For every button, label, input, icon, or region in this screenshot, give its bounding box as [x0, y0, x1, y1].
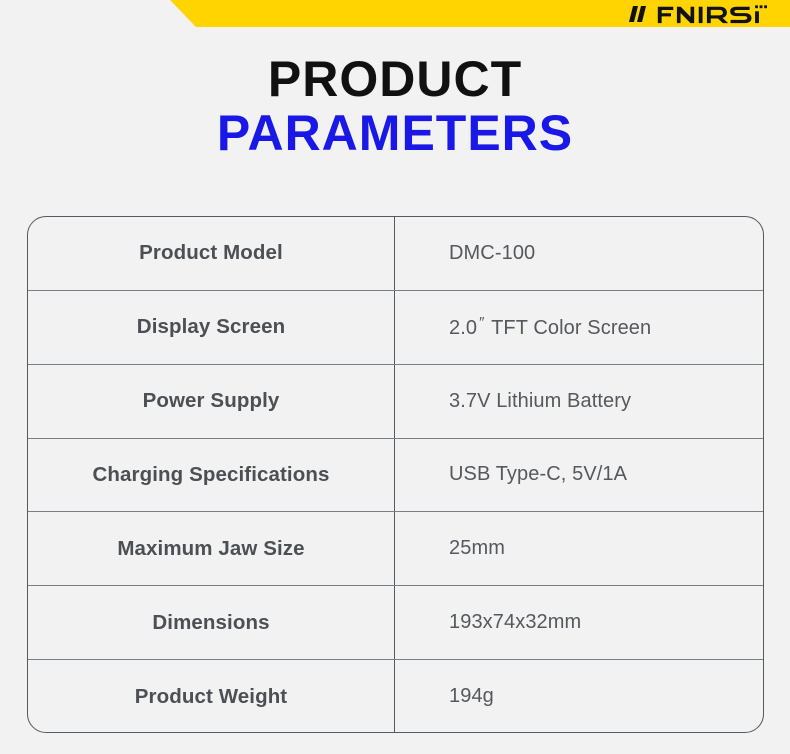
table-row: Display Screen 2.0″ TFT Color Screen	[28, 291, 763, 365]
inch-mark-icon: ″	[477, 314, 485, 331]
spec-value: 193x74x32mm	[449, 611, 581, 634]
header-banner	[0, 0, 790, 27]
spec-value: 25mm	[449, 537, 505, 560]
table-row: Dimensions 193x74x32mm	[28, 586, 763, 660]
table-cell-value: 3.7V Lithium Battery	[395, 365, 763, 438]
table-row: Power Supply 3.7V Lithium Battery	[28, 365, 763, 439]
spec-label: Display Screen	[137, 315, 285, 339]
spec-label: Dimensions	[152, 611, 269, 635]
fnirsi-wordmark-icon	[656, 4, 776, 24]
table-cell-label: Maximum Jaw Size	[28, 512, 395, 585]
table-cell-label: Dimensions	[28, 586, 395, 659]
table-cell-value: USB Type-C, 5V/1A	[395, 439, 763, 512]
brand-logo	[629, 0, 776, 27]
table-cell-value: 25mm	[395, 512, 763, 585]
spec-label: Product Model	[139, 241, 283, 265]
table-cell-label: Charging Specifications	[28, 439, 395, 512]
spec-label: Power Supply	[143, 389, 280, 413]
spec-value: DMC-100	[449, 242, 535, 265]
spec-label: Maximum Jaw Size	[117, 537, 304, 561]
table-row: Product Model DMC-100	[28, 217, 763, 291]
spec-value: USB Type-C, 5V/1A	[449, 463, 627, 486]
spec-value: 194g	[449, 685, 494, 708]
logo-slashes-icon	[629, 5, 651, 23]
spec-value: 3.7V Lithium Battery	[449, 390, 631, 413]
table-cell-label: Product Weight	[28, 660, 395, 733]
page-title: PRODUCT PARAMETERS	[0, 52, 790, 160]
table-cell-label: Product Model	[28, 217, 395, 290]
spec-label: Charging Specifications	[93, 463, 330, 487]
table-cell-value: 194g	[395, 660, 763, 733]
table-cell-label: Display Screen	[28, 291, 395, 364]
product-parameters-table: Product Model DMC-100 Display Screen 2.0…	[27, 216, 764, 733]
title-line-product: PRODUCT	[0, 52, 790, 106]
spec-value: 2.0″ TFT Color Screen	[449, 314, 651, 340]
table-cell-value: 193x74x32mm	[395, 586, 763, 659]
spec-label: Product Weight	[135, 685, 288, 709]
table-cell-value: 2.0″ TFT Color Screen	[395, 291, 763, 364]
table-row: Maximum Jaw Size 25mm	[28, 512, 763, 586]
table-cell-label: Power Supply	[28, 365, 395, 438]
table-row: Product Weight 194g	[28, 660, 763, 733]
spec-value-suffix: TFT Color Screen	[491, 317, 651, 339]
table-row: Charging Specifications USB Type-C, 5V/1…	[28, 439, 763, 513]
title-line-parameters: PARAMETERS	[0, 106, 790, 160]
table-cell-value: DMC-100	[395, 217, 763, 290]
spec-value-prefix: 2.0	[449, 317, 477, 339]
